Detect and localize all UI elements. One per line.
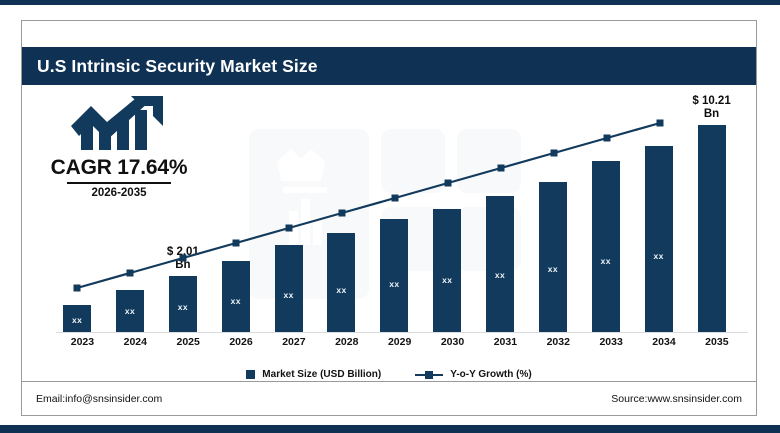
infographic-page: U.S Intrinsic Security Market Size CAGR … xyxy=(0,0,780,433)
legend-item-yoy-growth[interactable]: Y-o-Y Growth (%) xyxy=(415,369,531,380)
x-label-2024: 2024 xyxy=(109,336,162,348)
x-label-2029: 2029 xyxy=(373,336,426,348)
page-title: U.S Intrinsic Security Market Size xyxy=(22,56,318,77)
line-square-marker-icon xyxy=(415,370,443,379)
legend-item-market-size[interactable]: Market Size (USD Billion) xyxy=(246,369,381,380)
x-label-2030: 2030 xyxy=(426,336,479,348)
chart-legend: Market Size (USD Billion) Y-o-Y Growth (… xyxy=(22,369,756,380)
x-label-2023: 2023 xyxy=(56,336,109,348)
x-label-2033: 2033 xyxy=(585,336,638,348)
footer-bar: Email:info@snsinsider.com Source:www.sns… xyxy=(22,381,756,415)
x-label-2028: 2028 xyxy=(320,336,373,348)
title-band: U.S Intrinsic Security Market Size xyxy=(22,47,756,85)
square-swatch-icon xyxy=(246,370,255,379)
chart-plot-area: & xx xx xyxy=(56,91,748,333)
footer-source[interactable]: Source:www.snsinsider.com xyxy=(611,393,742,405)
x-label-2027: 2027 xyxy=(267,336,320,348)
x-label-2025: 2025 xyxy=(162,336,215,348)
x-label-2034: 2034 xyxy=(638,336,691,348)
bottom-accent-strip xyxy=(0,425,780,433)
x-label-2026: 2026 xyxy=(215,336,268,348)
footer-email[interactable]: Email:info@snsinsider.com xyxy=(36,393,162,405)
x-label-2031: 2031 xyxy=(479,336,532,348)
x-label-2035: 2035 xyxy=(690,336,743,348)
yoy-growth-markers xyxy=(56,91,748,333)
legend-label-market-size: Market Size (USD Billion) xyxy=(262,369,381,380)
x-label-2032: 2032 xyxy=(532,336,585,348)
top-accent-strip xyxy=(0,0,780,5)
chart-card: U.S Intrinsic Security Market Size CAGR … xyxy=(21,20,757,416)
x-axis-labels: 2023 2024 2025 2026 2027 2028 2029 2030 … xyxy=(56,336,748,354)
legend-label-yoy-growth: Y-o-Y Growth (%) xyxy=(450,369,531,380)
